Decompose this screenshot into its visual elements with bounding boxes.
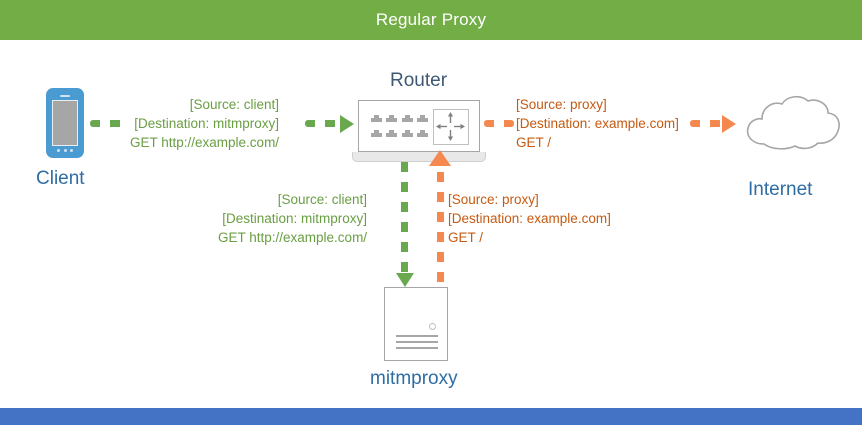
message-line: [Source: proxy] (448, 190, 611, 209)
node-label-router: Router (390, 70, 447, 92)
document-icon (384, 287, 448, 361)
message-line: GET / (448, 228, 611, 247)
message-client-to-router: [Source: client] [Destination: mitmproxy… (130, 95, 279, 152)
connector-router-to-internet-left (484, 120, 514, 127)
connector-router-to-internet-right (690, 120, 722, 127)
diagram-canvas: Regular Proxy Client [Source: client] [D… (0, 0, 862, 428)
document-lines (396, 335, 438, 353)
connector-router-to-mitmproxy (401, 162, 408, 275)
router-base (352, 152, 486, 162)
cloud-icon (740, 90, 844, 158)
router-switch-arrows-icon (433, 109, 469, 145)
arrowhead-mitmproxy-to-router (429, 150, 451, 166)
node-label-mitmproxy: mitmproxy (370, 368, 458, 390)
message-router-to-mitmproxy: [Source: client] [Destination: mitmproxy… (218, 190, 367, 247)
router-icon (358, 100, 480, 152)
arrowhead-router-to-internet (722, 115, 736, 133)
message-mitmproxy-to-router: [Source: proxy] [Destination: example.co… (448, 190, 611, 247)
message-line: [Source: client] (130, 95, 279, 114)
smartphone-icon (46, 88, 84, 158)
node-label-internet: Internet (748, 179, 812, 201)
message-line: [Source: proxy] (516, 95, 679, 114)
message-line: [Destination: example.com] (448, 209, 611, 228)
arrowhead-client-to-router (340, 115, 354, 133)
message-line: [Destination: mitmproxy] (130, 114, 279, 133)
message-line: [Destination: mitmproxy] (218, 209, 367, 228)
connector-client-to-router-right (305, 120, 340, 127)
connector-mitmproxy-to-router (437, 172, 444, 290)
message-router-to-internet: [Source: proxy] [Destination: example.co… (516, 95, 679, 152)
message-line: GET http://example.com/ (130, 133, 279, 152)
page-title: Regular Proxy (0, 0, 862, 40)
message-line: GET http://example.com/ (218, 228, 367, 247)
message-line: [Source: client] (218, 190, 367, 209)
document-circle (429, 323, 436, 330)
phone-home-dots (57, 149, 73, 152)
message-line: GET / (516, 133, 679, 152)
message-line: [Destination: example.com] (516, 114, 679, 133)
arrowhead-router-to-mitmproxy (396, 273, 414, 287)
node-label-client: Client (36, 168, 85, 190)
router-ports (371, 114, 429, 140)
footer-bar (0, 408, 862, 425)
phone-screen (52, 100, 78, 146)
connector-client-to-router-left (90, 120, 130, 127)
phone-speaker (60, 95, 70, 97)
